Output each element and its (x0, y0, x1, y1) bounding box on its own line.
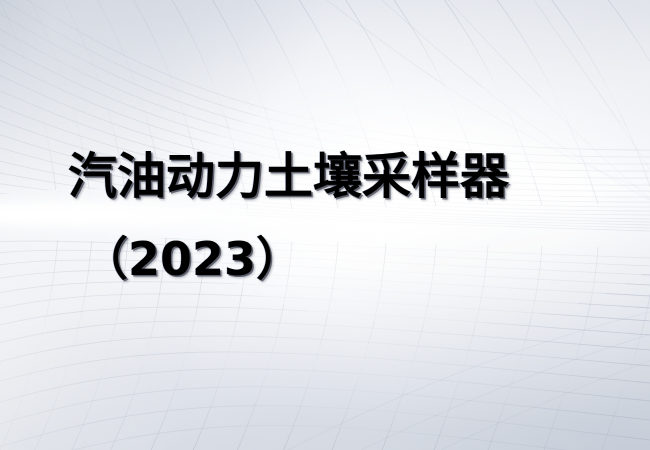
title-block: 汽油动力土壤采样器 （2023） (0, 0, 650, 450)
title-banner: 汽油动力土壤采样器 （2023） (0, 0, 650, 450)
page-title-primary: 汽油动力土壤采样器 (68, 152, 509, 201)
page-title-year: （2023） (82, 236, 302, 282)
